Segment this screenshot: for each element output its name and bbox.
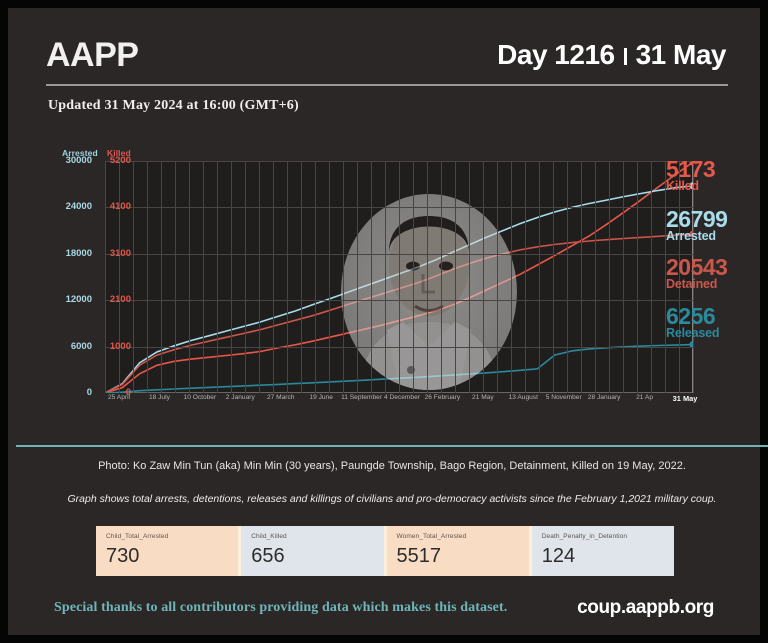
gridline-vertical xyxy=(231,161,232,393)
stat-card-value: 5517 xyxy=(397,545,519,567)
y-tick-arrested: 12000 xyxy=(48,294,92,305)
stat-card-key: Women_Total_Arrested xyxy=(397,533,519,540)
gridline-vertical xyxy=(315,161,316,393)
graph-note: Graph shows total arrests, detentions, r… xyxy=(8,493,768,505)
gridline-vertical xyxy=(273,161,274,393)
y-tick-killed: 3100 xyxy=(95,248,131,259)
gridline-horizontal xyxy=(105,207,693,208)
endpoint-arrested: 26799 Arrested xyxy=(666,208,727,243)
y-tick-arrested: 0 xyxy=(48,387,92,398)
x-tick-label: 31 May xyxy=(673,394,698,403)
gridline-vertical xyxy=(357,161,358,393)
x-tick-label: 18 July xyxy=(149,394,170,401)
x-tick-label: 28 January xyxy=(588,394,621,401)
x-tick-label: 27 March xyxy=(267,394,295,401)
gridline-vertical xyxy=(329,161,330,393)
gridline-vertical xyxy=(637,161,638,393)
y-tick-arrested: 6000 xyxy=(48,341,92,352)
endpoint-released-value: 6256 xyxy=(666,305,719,327)
x-tick-label: 2 January xyxy=(226,394,255,401)
gridline-vertical xyxy=(203,161,204,393)
gridline-horizontal xyxy=(105,347,693,348)
day-date-line: Day 121631 May xyxy=(497,34,726,81)
gridline-vertical xyxy=(525,161,526,393)
gridline-vertical xyxy=(161,161,162,393)
endpoint-detained: 20543 Detained xyxy=(666,256,727,291)
y-tick-killed: 5200 xyxy=(95,155,131,166)
stat-card-value: 730 xyxy=(106,545,228,567)
stat-card-key: Death_Penalty_in_Detention xyxy=(542,533,664,540)
y-tick-arrested: 30000 xyxy=(48,155,92,166)
y-tick-arrested: 18000 xyxy=(48,248,92,259)
day-counter: Day 1216 xyxy=(497,39,614,70)
x-tick-label: 21 Ap xyxy=(636,394,653,401)
updated-timestamp: Updated 31 May 2024 at 16:00 (GMT+6) xyxy=(48,98,299,114)
gridline-vertical xyxy=(651,161,652,393)
stat-card-value: 124 xyxy=(542,545,664,567)
photo-caption: Photo: Ko Zaw Min Tun (aka) Min Min (30 … xyxy=(8,460,768,472)
endpoint-arrested-value: 26799 xyxy=(666,208,727,230)
header-rule xyxy=(46,84,728,86)
gridline-vertical xyxy=(455,161,456,393)
gridline-vertical xyxy=(259,161,260,393)
x-tick-label: 26 February xyxy=(425,394,461,401)
portrait-illustration xyxy=(341,194,517,390)
y-tick-killed: 1000 xyxy=(95,341,131,352)
endpoint-detained-value: 20543 xyxy=(666,256,727,278)
gridline-horizontal xyxy=(105,300,693,301)
x-tick-label: 19 June xyxy=(309,394,332,401)
gridline-vertical xyxy=(301,161,302,393)
y-tick-arrested: 24000 xyxy=(48,201,92,212)
x-tick-label: 4 December xyxy=(384,394,420,401)
endpoint-released: 6256 Released xyxy=(666,305,719,340)
gridline-vertical xyxy=(287,161,288,393)
endpoint-killed-value: 5173 xyxy=(666,158,715,180)
gridline-vertical xyxy=(581,161,582,393)
plot-area xyxy=(105,161,693,393)
separator-bar xyxy=(624,48,627,65)
stat-card: Child_Total_Arrested730 xyxy=(96,526,238,576)
stat-card-value: 656 xyxy=(251,545,373,567)
y-tick-killed: 4100 xyxy=(95,201,131,212)
gridline-vertical xyxy=(133,161,134,393)
gridline-vertical xyxy=(483,161,484,393)
gridline-horizontal xyxy=(105,161,693,162)
stat-card: Child_Killed656 xyxy=(241,526,383,576)
x-tick-label: 11 September xyxy=(341,394,382,401)
section-divider xyxy=(16,445,768,447)
thanks-text: Special thanks to all contributors provi… xyxy=(54,600,507,616)
brand-title: AAPP xyxy=(46,34,138,76)
gridline-vertical xyxy=(441,161,442,393)
gridline-vertical xyxy=(413,161,414,393)
poster-panel: AAPP Day 121631 May Updated 31 May 2024 … xyxy=(8,8,760,635)
gridline-vertical xyxy=(567,161,568,393)
x-tick-label: 25 April xyxy=(108,394,130,401)
stat-card-key: Child_Total_Arrested xyxy=(106,533,228,540)
stat-card: Women_Total_Arrested5517 xyxy=(387,526,529,576)
gridline-vertical xyxy=(189,161,190,393)
gridline-vertical xyxy=(553,161,554,393)
header: AAPP Day 121631 May xyxy=(46,34,726,88)
gridline-horizontal xyxy=(105,254,693,255)
gridline-vertical xyxy=(119,161,120,393)
gridline-vertical xyxy=(399,161,400,393)
gridline-vertical xyxy=(343,161,344,393)
stat-card-key: Child_Killed xyxy=(251,533,373,540)
stat-cards: Child_Total_Arrested730Child_Killed656Wo… xyxy=(96,526,674,576)
gridline-vertical xyxy=(623,161,624,393)
poster-frame: AAPP Day 121631 May Updated 31 May 2024 … xyxy=(0,0,768,643)
gridline-vertical xyxy=(427,161,428,393)
x-tick-label: 10 October xyxy=(184,394,217,401)
website-url[interactable]: coup.aappb.org xyxy=(577,597,714,619)
y-tick-killed: 2100 xyxy=(95,294,131,305)
stat-card: Death_Penalty_in_Detention124 xyxy=(532,526,674,576)
gridline-vertical xyxy=(217,161,218,393)
gridline-vertical xyxy=(175,161,176,393)
gridline-vertical xyxy=(609,161,610,393)
gridline-vertical xyxy=(469,161,470,393)
gridline-vertical xyxy=(105,161,106,393)
endpoint-released-caption: Released xyxy=(666,327,719,340)
x-tick-label: 13 August xyxy=(509,394,538,401)
gridline-vertical xyxy=(245,161,246,393)
x-tick-label: 21 May xyxy=(472,394,494,401)
endpoint-killed: 5173 Killed xyxy=(666,158,715,193)
chart: Arrested Killed xyxy=(48,148,738,423)
gridline-vertical xyxy=(497,161,498,393)
gridline-vertical xyxy=(147,161,148,393)
victim-photo xyxy=(341,194,517,390)
gridline-vertical xyxy=(385,161,386,393)
gridline-vertical xyxy=(539,161,540,393)
date-label: 31 May xyxy=(636,39,726,70)
x-tick-label: 5 November xyxy=(546,394,582,401)
gridline-vertical xyxy=(595,161,596,393)
gridline-vertical xyxy=(371,161,372,393)
gridline-vertical xyxy=(511,161,512,393)
